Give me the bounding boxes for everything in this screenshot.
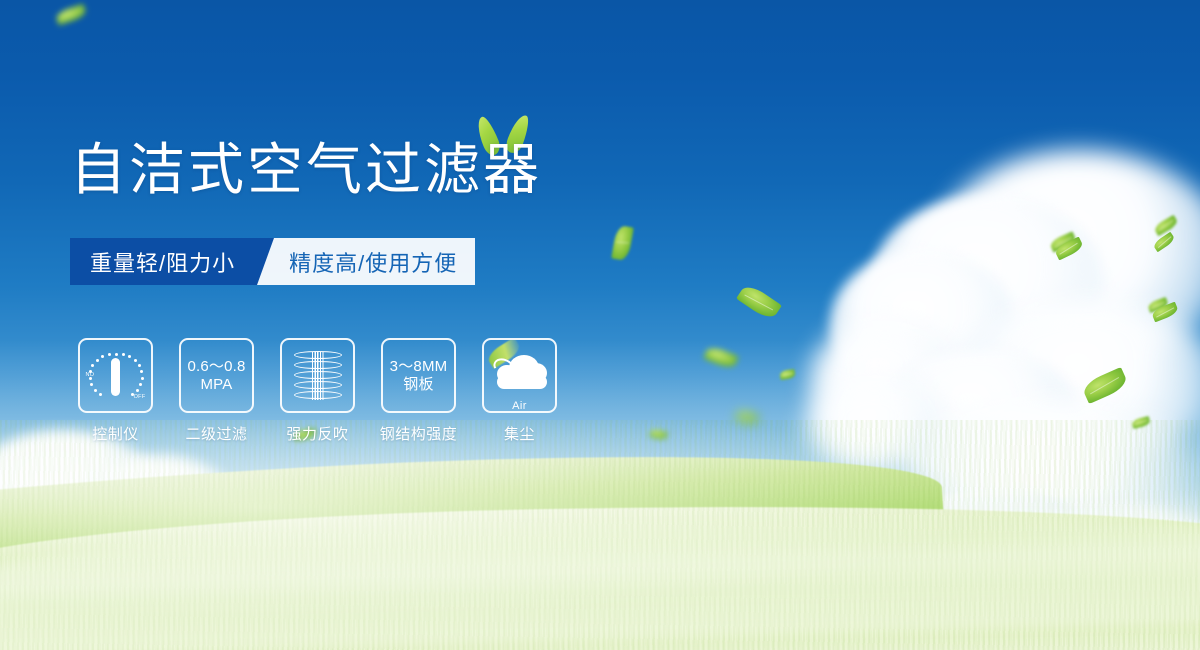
- floating-leaf: [55, 4, 88, 26]
- feature-icon-box: NO OFF: [78, 338, 153, 413]
- filter-cartridge-icon: [294, 349, 342, 403]
- feature-caption: 二级过滤: [185, 423, 247, 444]
- grass-field: [0, 420, 1200, 650]
- gauge-label-off: OFF: [134, 394, 146, 400]
- floating-leaf: [779, 369, 795, 380]
- gauge-label-on: NO: [86, 372, 95, 378]
- steel-plate-text-icon: 3～8MM 钢板: [390, 358, 448, 393]
- gauge-icon: NO OFF: [86, 347, 146, 405]
- feature-caption: 钢结构强度: [380, 423, 458, 444]
- feature-icon-box: Air: [482, 338, 557, 413]
- floating-leaf: [611, 225, 634, 261]
- feature-caption: 强力反吹: [286, 423, 348, 444]
- feature-item-steel-strength[interactable]: 3～8MM 钢板 钢结构强度: [381, 338, 456, 444]
- floating-leaf: [736, 282, 782, 322]
- page-title: 自洁式空气过滤器: [70, 142, 542, 198]
- feature-caption: 集尘: [504, 423, 535, 444]
- subtitle-bar: 重量轻/阻力小 精度高/使用方便: [70, 238, 475, 285]
- pressure-text-icon: 0.6～0.8 MPA: [187, 358, 245, 393]
- feature-item-back-blow[interactable]: 强力反吹: [280, 338, 355, 444]
- air-cloud-icon: Air: [491, 351, 549, 401]
- feature-item-secondary-filter[interactable]: 0.6～0.8 MPA 二级过滤: [179, 338, 254, 444]
- grass-highlight: [0, 420, 1200, 650]
- feature-icon-box: 3～8MM 钢板: [381, 338, 456, 413]
- gauge-needle: [111, 358, 120, 396]
- air-label: Air: [491, 400, 549, 412]
- subtitle-right-segment: 精度高/使用方便: [257, 238, 475, 285]
- product-hero-banner: 自洁式空气过滤器 重量轻/阻力小 精度高/使用方便: [0, 0, 1200, 650]
- feature-item-dust-collection[interactable]: Air 集尘: [482, 338, 557, 444]
- feature-icon-box: [280, 338, 355, 413]
- feature-item-controller[interactable]: NO OFF 控制仪: [78, 338, 153, 444]
- feature-icon-box: 0.6～0.8 MPA: [179, 338, 254, 413]
- feature-list: NO OFF 控制仪 0.6～0.8 MPA 二级过滤: [78, 338, 557, 444]
- floating-leaf: [703, 345, 738, 371]
- feature-caption: 控制仪: [92, 423, 139, 444]
- subtitle-left-segment: 重量轻/阻力小: [70, 238, 257, 285]
